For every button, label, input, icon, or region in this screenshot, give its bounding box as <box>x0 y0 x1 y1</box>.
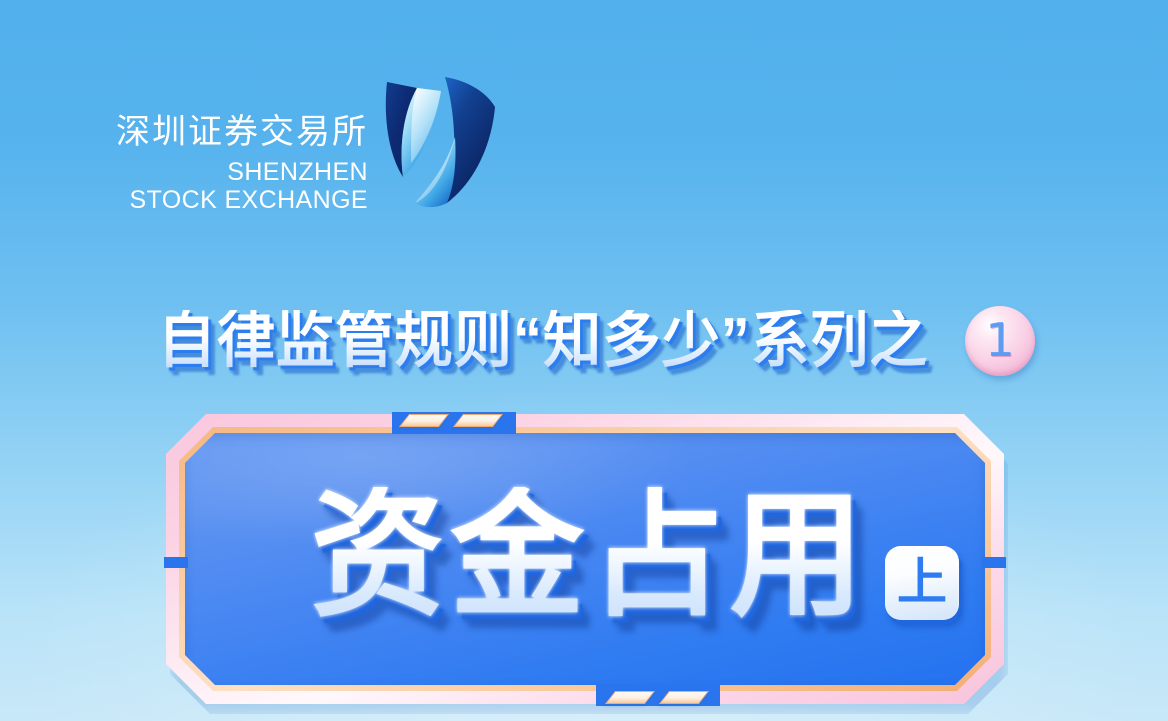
series-number-badge: 1 <box>965 306 1035 376</box>
szse-logo[interactable]: 深圳证券交易所 SHENZHEN STOCK EXCHANGE <box>78 60 508 240</box>
szse-leaf-logo-icon <box>373 55 503 235</box>
logo-name-cn: 深圳证券交易所 <box>78 112 368 152</box>
logo-wordmark: 深圳证券交易所 SHENZHEN STOCK EXCHANGE <box>78 112 368 214</box>
poster-canvas: 深圳证券交易所 SHENZHEN STOCK EXCHANGE <box>0 0 1168 721</box>
part-badge-label: 上 <box>897 557 947 607</box>
series-number-digit: 1 <box>985 317 1014 363</box>
title-text-container: 资金占用 <box>166 414 1004 704</box>
headline: 自律监管规则“知多少”系列之 1 <box>0 306 1168 376</box>
logo-name-en: SHENZHEN STOCK EXCHANGE <box>78 158 368 214</box>
part-badge: 上 <box>885 546 959 620</box>
title-card: 资金占用 上 <box>166 414 1004 704</box>
logo-name-en-line2: STOCK EXCHANGE <box>78 186 368 214</box>
headline-text: 自律监管规则“知多少”系列之 <box>158 310 929 372</box>
title-text: 资金占用 <box>311 487 870 625</box>
logo-name-en-line1: SHENZHEN <box>78 158 368 186</box>
